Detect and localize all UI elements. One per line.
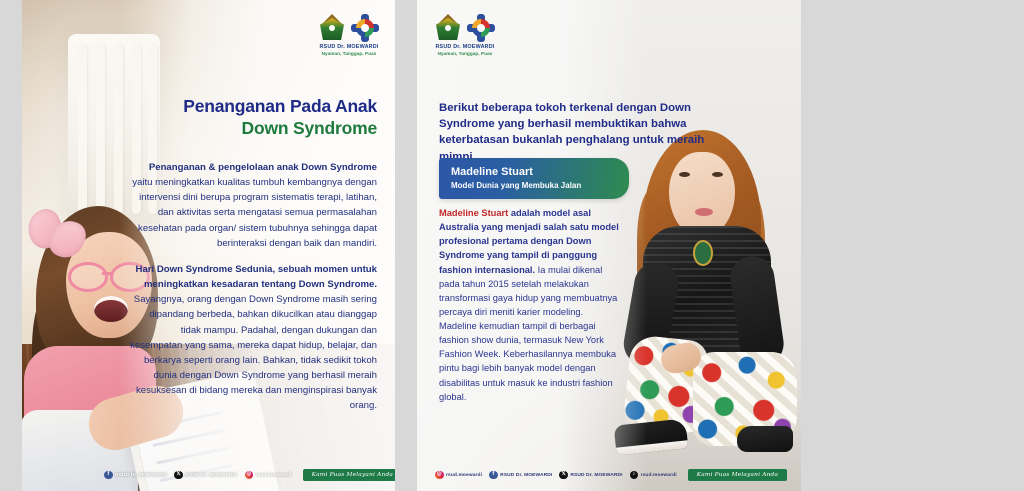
slogan-button[interactable]: Kami Puas Melayani Anda: [303, 469, 395, 481]
slide-1-title-line-1: Penanganan Pada Anak: [123, 95, 377, 117]
slide-1-paragraph-2: Hari Down Syndrome Sedunia, sebuah momen…: [129, 262, 377, 414]
slide-1-footer: f RSUD Dr. MOEWARDI 𝕏 RSUD Dr. MOEWARDI …: [104, 469, 395, 481]
instagram-icon[interactable]: ◎: [245, 471, 254, 480]
facebook-handle: RSUD Dr. MOEWARDI: [115, 473, 167, 478]
facebook-handle: RSUD Dr. MOEWARDI: [500, 473, 552, 478]
keraton-crest-icon: [319, 14, 345, 42]
logo-hospital-name: RSUD Dr. MOEWARDI: [435, 44, 494, 50]
facebook-icon[interactable]: f: [489, 471, 498, 480]
twitter-x-icon[interactable]: 𝕏: [559, 471, 568, 480]
instagram-handle: rsud.moewardi: [256, 473, 292, 478]
figure-name: Madeline Stuart: [451, 166, 619, 178]
figure-subtitle: Model Dunia yang Membuka Jalan: [451, 181, 619, 190]
slide-1[interactable]: RSUD Dr. MOEWARDI Nyaman, Tanggap, Puas …: [22, 0, 395, 491]
sneaker-shape-right: [737, 426, 793, 452]
instagram-icon[interactable]: ◎: [435, 471, 444, 480]
slide-deck-canvas: RSUD Dr. MOEWARDI Nyaman, Tanggap, Puas …: [0, 0, 1024, 491]
logo-tagline: Nyaman, Tanggap, Puas: [322, 51, 377, 56]
p2-rest: Sayangnya, orang dengan Down Syndrome ma…: [130, 294, 377, 411]
social-facebook[interactable]: f RSUD Dr. MOEWARDI: [104, 471, 167, 480]
twitter-handle: RSUD Dr. MOEWARDI: [570, 473, 622, 478]
body-rest: Ia mulai dikenal pada tahun 2015 setelah…: [439, 265, 617, 402]
slide-2[interactable]: RSUD Dr. MOEWARDI Nyaman, Tanggap, Puas …: [417, 0, 801, 491]
slide-1-body-text: Penanganan & pengelolaan anak Down Syndr…: [129, 160, 377, 425]
social-instagram[interactable]: ◎ rsud.moewardi: [245, 471, 292, 480]
slide-2-body-text: Madeline Stuart adalah model asal Austra…: [439, 206, 619, 404]
p1-rest: yaitu meningkatkan kualitas tumbuh kemba…: [132, 177, 377, 249]
canvas-left-margin: [0, 0, 22, 491]
medical-cross-icon: [467, 14, 495, 42]
social-tiktok[interactable]: ♪ rsud.moewardi: [630, 471, 677, 480]
slide-2-heading: Berikut beberapa tokoh terkenal dengan D…: [439, 100, 739, 165]
canvas-middle-gutter: [395, 0, 417, 491]
slogan-button[interactable]: Kami Puas Melayani Anda: [688, 469, 787, 481]
social-twitter-x[interactable]: 𝕏 RSUD Dr. MOEWARDI: [174, 471, 237, 480]
logo-tagline: Nyaman, Tanggap, Puas: [438, 51, 493, 56]
p1-lead: Penanganan & pengelolaan anak Down Syndr…: [149, 162, 377, 173]
slide-1-title-line-2: Down Syndrome: [123, 117, 377, 139]
hospital-logo: RSUD Dr. MOEWARDI Nyaman, Tanggap, Puas: [435, 14, 495, 56]
hospital-logo: RSUD Dr. MOEWARDI Nyaman, Tanggap, Puas: [319, 14, 379, 56]
figure-name-badge: Madeline Stuart Model Dunia yang Membuka…: [439, 158, 629, 199]
pendant-necklace-icon: [695, 242, 711, 264]
keraton-crest-icon: [435, 14, 461, 42]
slide-2-footer: ◎ rsud.moewardi f RSUD Dr. MOEWARDI 𝕏 RS…: [435, 469, 787, 481]
twitter-x-icon[interactable]: 𝕏: [174, 471, 183, 480]
tiktok-handle: rsud.moewardi: [641, 473, 677, 478]
medical-cross-icon: [351, 14, 379, 42]
twitter-handle: RSUD Dr. MOEWARDI: [185, 473, 237, 478]
facebook-icon[interactable]: f: [104, 471, 113, 480]
social-twitter-x[interactable]: 𝕏 RSUD Dr. MOEWARDI: [559, 471, 622, 480]
hair-bow-icon: [28, 208, 90, 266]
canvas-right-margin: [801, 0, 1024, 491]
logo-hospital-name: RSUD Dr. MOEWARDI: [319, 44, 378, 50]
instagram-handle: rsud.moewardi: [446, 473, 482, 478]
social-instagram[interactable]: ◎ rsud.moewardi: [435, 471, 482, 480]
slide-1-paragraph-1: Penanganan & pengelolaan anak Down Syndr…: [129, 160, 377, 251]
social-facebook[interactable]: f RSUD Dr. MOEWARDI: [489, 471, 552, 480]
body-lead-name: Madeline Stuart: [439, 208, 508, 218]
p2-lead: Hari Down Syndrome Sedunia, sebuah momen…: [136, 264, 377, 290]
tiktok-icon[interactable]: ♪: [630, 471, 639, 480]
slide-1-title: Penanganan Pada Anak Down Syndrome: [123, 95, 377, 140]
